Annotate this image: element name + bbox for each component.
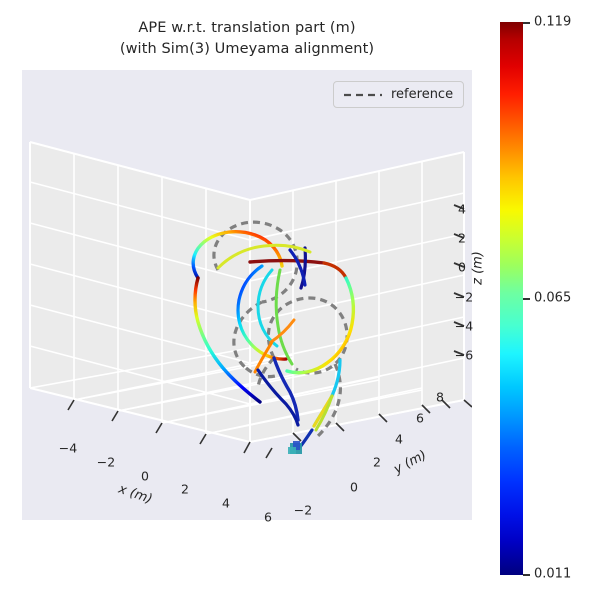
legend-dash-icon [343, 90, 383, 100]
x-tick-label: −4 [59, 441, 77, 456]
axes-3d-area[interactable]: reference [22, 70, 472, 520]
colorbar-tick-label: 0.011 [534, 567, 571, 582]
legend[interactable]: reference [333, 81, 464, 108]
colorbar[interactable]: 0.119 0.065 0.011 [500, 22, 523, 575]
y-tick-label: 2 [373, 455, 381, 470]
y-tick-label: −2 [294, 503, 312, 518]
x-tick-label: 0 [141, 469, 149, 484]
colorbar-tick [523, 22, 530, 24]
legend-entry-label: reference [391, 87, 453, 102]
colorbar-gradient [500, 22, 523, 575]
z-tick-label: 0 [458, 260, 466, 275]
z-tick-label: 4 [458, 202, 466, 217]
colorbar-tick-label: 0.119 [534, 15, 571, 30]
z-tick-label: 2 [458, 231, 466, 246]
x-tick-label: −2 [97, 455, 115, 470]
z-tick-label: −4 [455, 319, 473, 334]
y-tick-label: 6 [416, 411, 424, 426]
x-tick-label: 4 [222, 496, 230, 511]
chart-title: APE w.r.t. translation part (m) (with Si… [22, 18, 472, 60]
chart-title-line-2: (with Sim(3) Umeyama alignment) [22, 39, 472, 60]
y-tick-label: 8 [436, 390, 444, 405]
colorbar-tick [523, 574, 530, 576]
figure-canvas: APE w.r.t. translation part (m) (with Si… [0, 0, 600, 600]
z-tick-label: −6 [455, 348, 473, 363]
y-tick-label: 4 [395, 432, 403, 447]
colorbar-tick [523, 298, 530, 300]
start-marker [288, 441, 302, 454]
y-tick-label: 0 [350, 480, 358, 495]
axes-3d-svg [22, 70, 472, 520]
x-tick-label: 2 [181, 482, 189, 497]
z-axis-label-clip: z (m) [470, 230, 500, 306]
z-axis-label: z (m) [471, 251, 486, 285]
x-tick-label: 6 [264, 510, 272, 525]
colorbar-tick-label: 0.065 [534, 291, 571, 306]
chart-title-line-1: APE w.r.t. translation part (m) [22, 18, 472, 39]
